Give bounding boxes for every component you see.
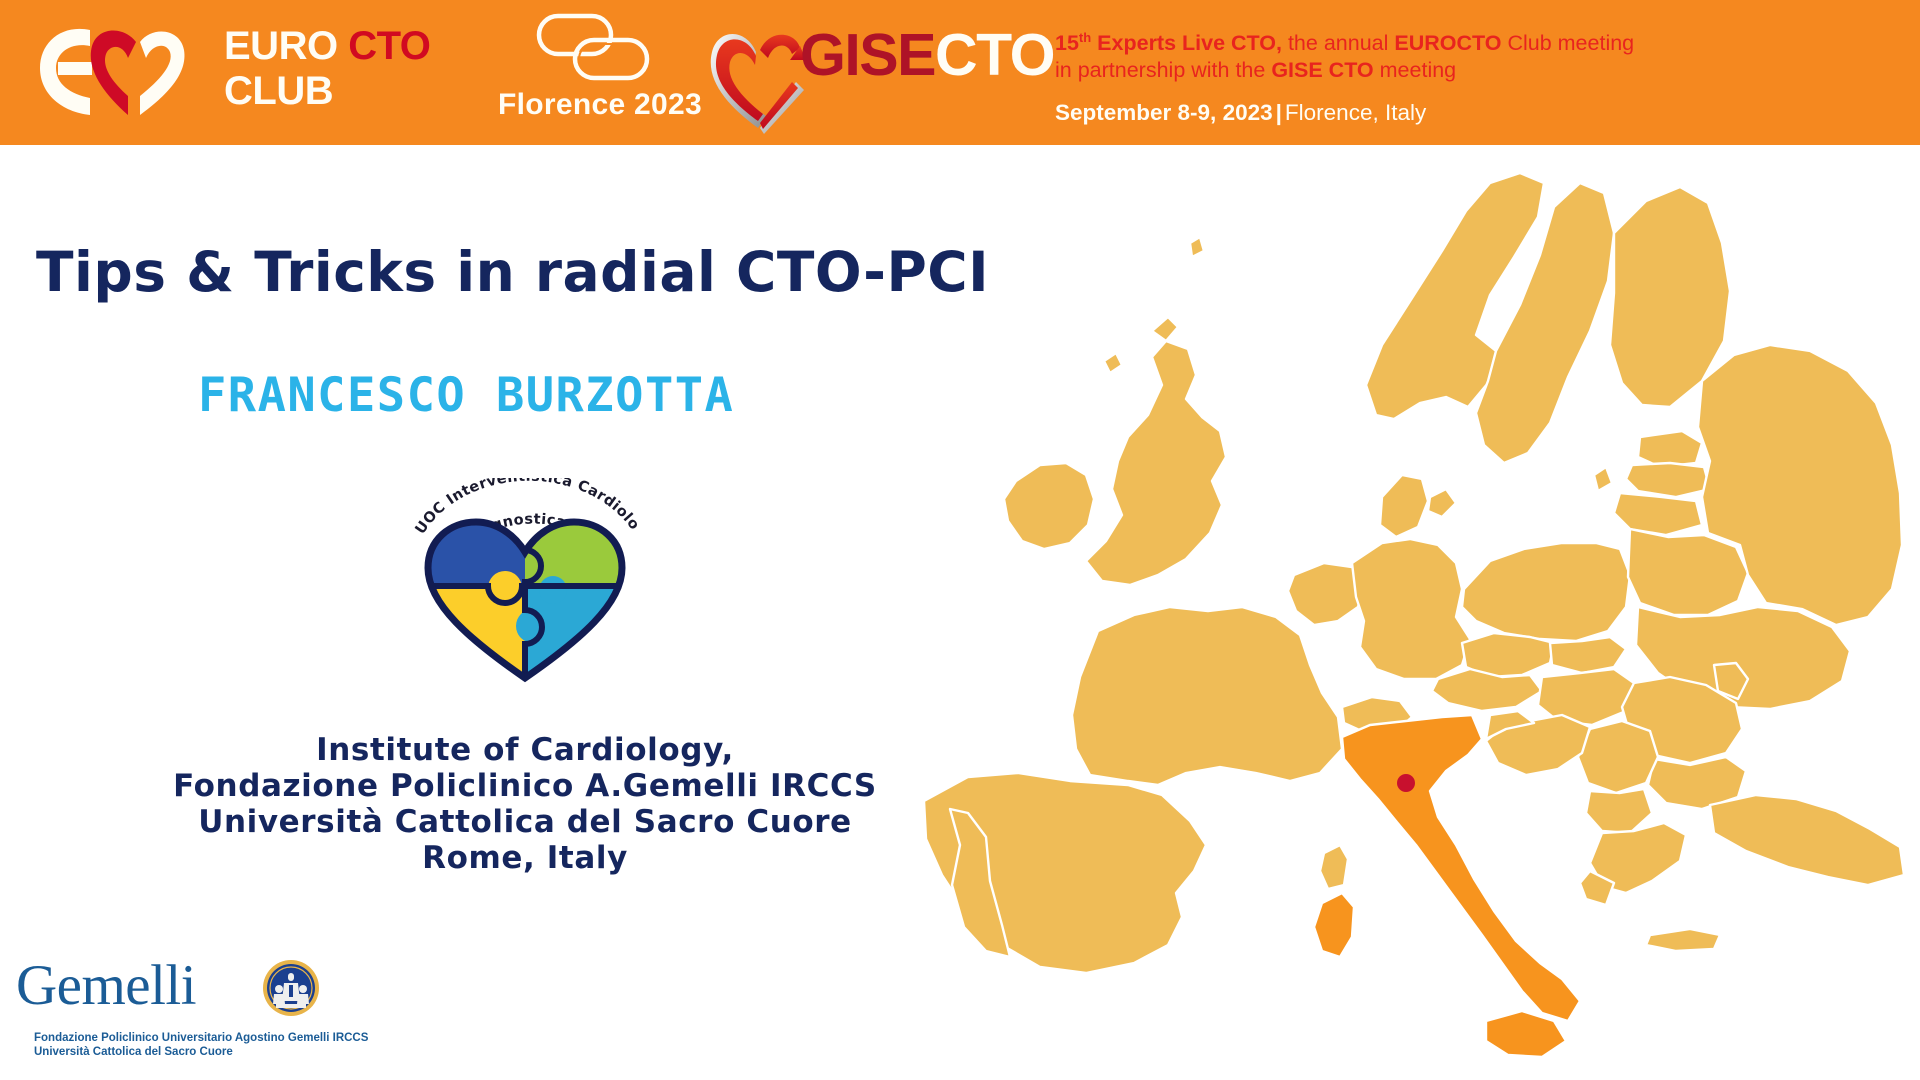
affiliation-line-2: Fondazione Policlinico A.Gemelli IRCCS (130, 768, 920, 804)
map-country-turkey-edge (1710, 795, 1904, 885)
uoc-heart-puzzle-logo: UOC Interventistica Cardiologica e Diagn… (400, 478, 650, 700)
svg-text:UOC Interventistica Cardiologi: UOC Interventistica Cardiologica (400, 478, 642, 537)
date-separator: | (1273, 100, 1285, 125)
affiliation-line-1: Institute of Cardiology, (130, 732, 920, 768)
heart-puzzle-pieces (420, 514, 630, 686)
map-country-albania-macedonia (1586, 789, 1652, 833)
map-country-ireland (1004, 463, 1094, 549)
uoc-caption-line-1: UOC Interventistica Cardiologica (400, 478, 642, 537)
tagline-the-annual: the annual (1282, 31, 1394, 55)
map-island-scotland-north (1152, 317, 1178, 341)
map-country-slovakia (1550, 637, 1626, 673)
map-country-austria (1432, 669, 1542, 711)
conference-tagline: 15th Experts Live CTO, the annual EUROCT… (1055, 24, 1895, 126)
map-country-lithuania (1614, 493, 1702, 535)
gemelli-logo-block: Gemelli Fondazione P (16, 955, 356, 1065)
tagline-eurocto: EUROCTO (1394, 31, 1501, 55)
conference-date: September 8-9, 2023 (1055, 100, 1273, 125)
florence-location-marker (1397, 774, 1415, 792)
map-island-zealand (1428, 489, 1456, 517)
map-country-serbia (1578, 721, 1658, 793)
tagline-ordinal-suffix: th (1079, 30, 1091, 45)
gemelli-subtitle-line-1: Fondazione Policlinico Universitario Ago… (34, 1031, 364, 1045)
florence-2023-logo: Florence 2023 (490, 10, 710, 135)
map-country-italy-sardinia (1314, 893, 1354, 957)
tagline-meeting: meeting (1374, 58, 1456, 82)
tagline-partnership: in partnership with the (1055, 58, 1271, 82)
europe-map (890, 145, 1920, 1080)
map-country-germany (1352, 539, 1470, 679)
map-country-estonia (1638, 431, 1702, 467)
tagline-club-meeting: Club meeting (1501, 31, 1634, 55)
presentation-slide: EURO CTO CLUB Florence 2023 (0, 0, 1920, 1080)
map-country-latvia (1626, 463, 1710, 497)
logo-word-gise-cto: CTO (935, 22, 1054, 88)
logo-word-club: CLUB (224, 69, 333, 113)
map-island-gotland (1594, 467, 1612, 491)
map-country-poland (1462, 543, 1630, 641)
map-country-denmark (1380, 475, 1428, 537)
logo-word-gise: GISE (800, 22, 935, 88)
conference-date-location: September 8-9, 2023|Florence, Italy (1055, 100, 1895, 126)
affiliation-block: Institute of Cardiology, Fondazione Poli… (130, 732, 920, 876)
gemelli-subtitle: Fondazione Policlinico Universitario Ago… (34, 1031, 364, 1059)
tagline-line-2: in partnership with the GISE CTO meeting (1055, 57, 1895, 84)
gise-cto-heart-mark (700, 16, 810, 134)
logo-word-cto: CTO (348, 24, 430, 68)
map-country-france (1072, 607, 1342, 785)
tagline-experts-live: Experts Live CTO, (1091, 31, 1282, 55)
page-title: Tips & Tricks in radial CTO-PCI (36, 240, 1036, 304)
euro-cto-club-wordmark: EURO CTO CLUB (224, 24, 464, 116)
map-island-crete (1646, 929, 1720, 951)
tagline-line-1: 15th Experts Live CTO, the annual EUROCT… (1055, 24, 1895, 57)
euro-cto-club-logo: EURO CTO CLUB (28, 14, 468, 124)
gise-cto-wordmark: GISECTO (800, 24, 1054, 86)
affiliation-line-3: Università Cattolica del Sacro Cuore (130, 804, 920, 840)
euro-cto-club-heart-mark (28, 20, 208, 118)
map-island-hebrides (1104, 353, 1122, 373)
tagline-gise-cto: GISE CTO (1271, 58, 1373, 82)
map-island-shetland (1190, 237, 1204, 257)
conference-header-banner: EURO CTO CLUB Florence 2023 (0, 0, 1920, 145)
map-island-corsica (1320, 845, 1348, 889)
affiliation-line-4: Rome, Italy (130, 840, 920, 876)
map-country-united-kingdom (1086, 341, 1226, 585)
florence-chain-mark (535, 10, 665, 86)
gise-cto-logo: GISECTO (700, 8, 1030, 138)
florence-label: Florence 2023 (490, 88, 710, 122)
conference-location: Florence, Italy (1285, 100, 1426, 125)
logo-word-euro: EURO (224, 24, 338, 68)
gemelli-subtitle-line-2: Università Cattolica del Sacro Cuore (34, 1045, 364, 1059)
presenter-name: FRANCESCO BURZOTTA (198, 368, 958, 423)
gemelli-wordmark: Gemelli (16, 955, 196, 1017)
ucsc-seal-icon (262, 959, 320, 1017)
tagline-ordinal-number: 15 (1055, 31, 1079, 55)
